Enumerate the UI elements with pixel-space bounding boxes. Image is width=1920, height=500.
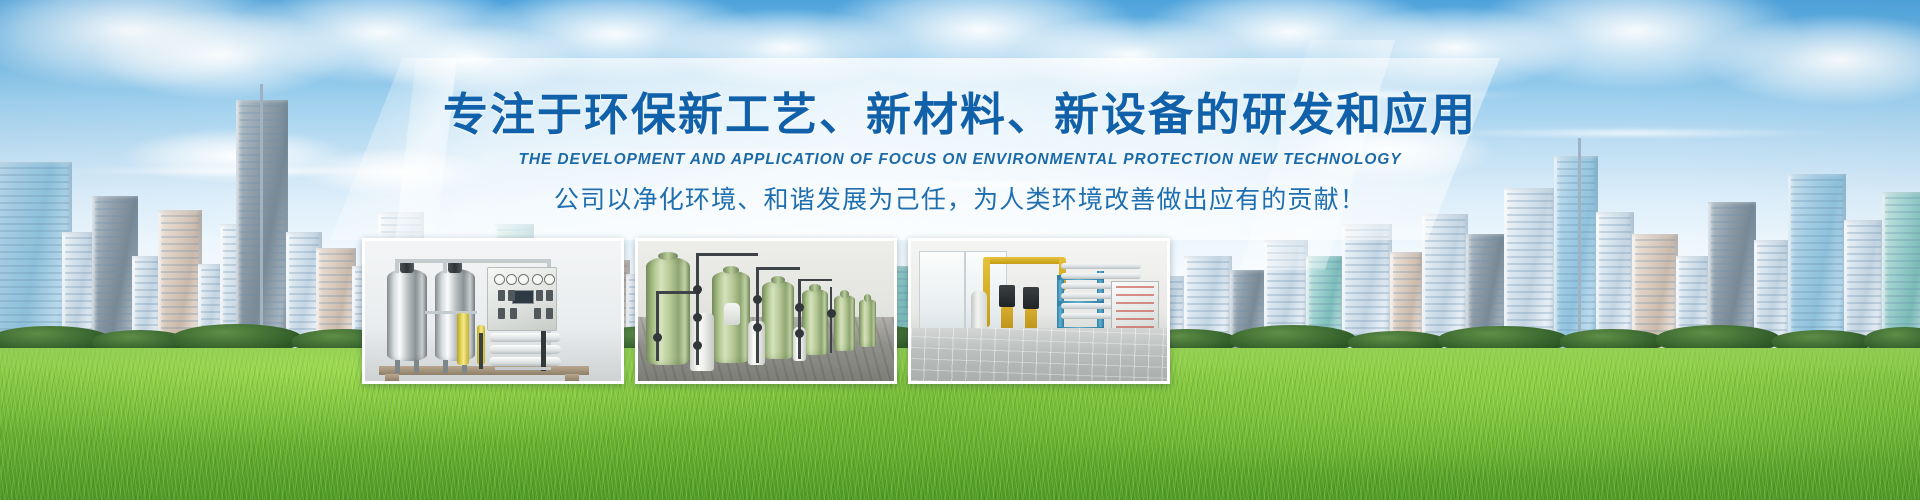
product-photo-strip: [362, 238, 1172, 384]
banner-subheadline-english: THE DEVELOPMENT AND APPLICATION OF FOCUS…: [0, 152, 1920, 168]
photo-stainless-ro-skid[interactable]: [362, 238, 624, 384]
banner-tagline: 公司以净化环境、和谐发展为己任，为人类环境改善做出应有的贡献！: [0, 187, 1920, 212]
banner-copy: 专注于环保新工艺、新材料、新设备的研发和应用 THE DEVELOPMENT A…: [0, 92, 1920, 212]
promo-banner: 专注于环保新工艺、新材料、新设备的研发和应用 THE DEVELOPMENT A…: [0, 0, 1920, 500]
photo-ro-plant-room[interactable]: [908, 238, 1170, 384]
photo-frp-vessel-row[interactable]: [635, 238, 897, 384]
banner-headline: 专注于环保新工艺、新材料、新设备的研发和应用: [0, 92, 1920, 137]
